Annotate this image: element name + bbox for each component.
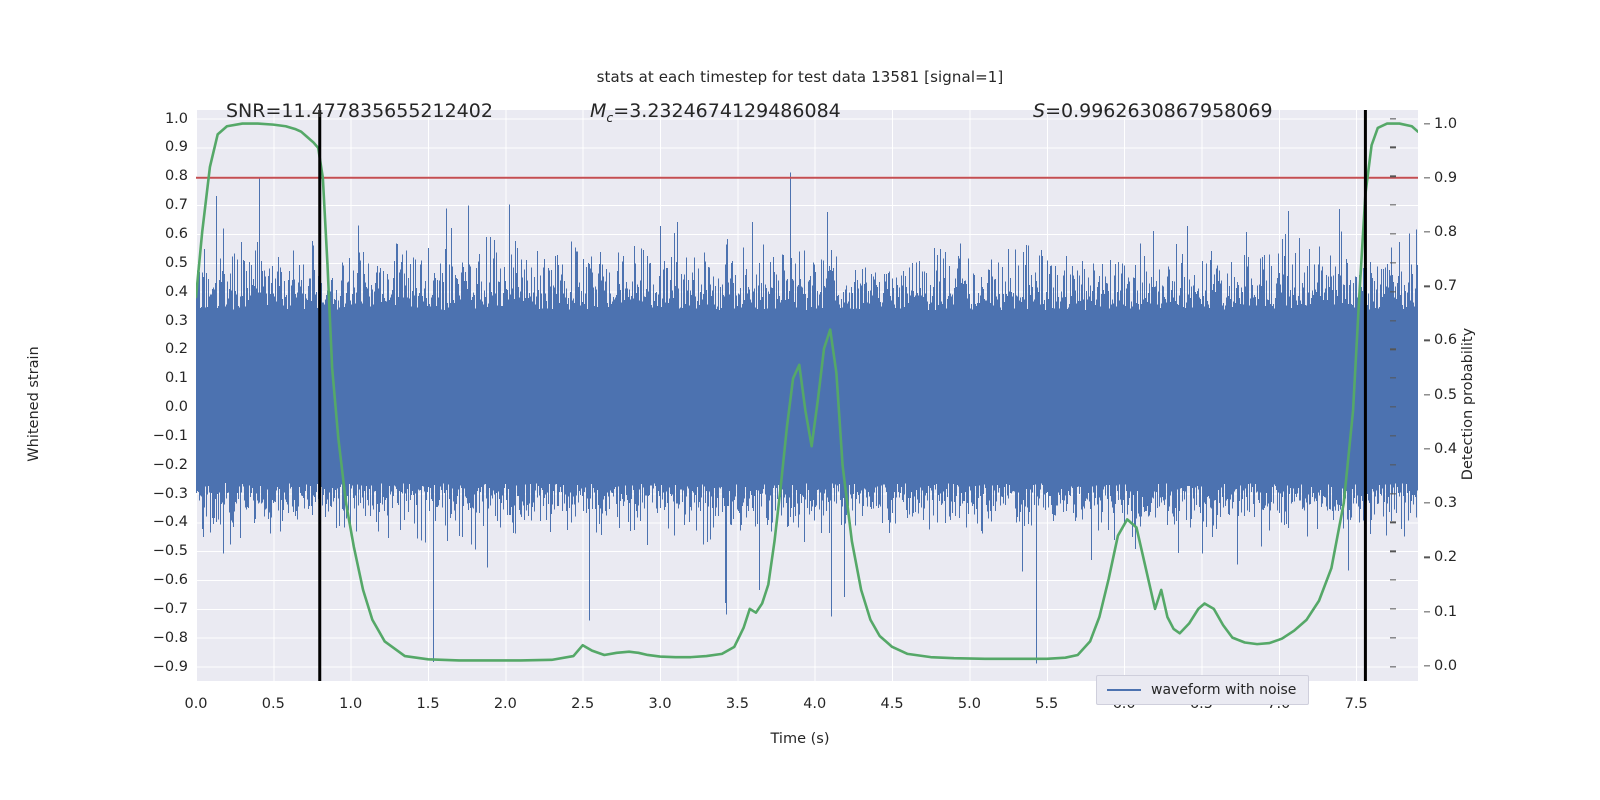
y-tick-right-0: 1.0 [1434,116,1457,132]
x-tick-7: 3.5 [726,696,749,712]
y-tick-left-0: 1.0 [165,111,188,127]
y-tickmark-right-5 [1424,394,1430,395]
y-tick-left-17: −0.7 [153,601,188,617]
y-tickmark-left-17 [1390,608,1396,609]
y-tickmark-left-19 [1390,666,1396,667]
y-tickmark-right-3 [1424,286,1430,287]
legend-line-swatch [1107,689,1141,691]
y-tick-left-19: −0.9 [153,659,188,675]
y-tick-right-5: 0.5 [1434,387,1457,403]
annotation-s-value: 0.9962630867958069 [1061,100,1273,122]
x-tick-15: 7.5 [1345,696,1368,712]
x-tick-1: 0.5 [262,696,285,712]
x-tick-10: 5.0 [958,696,981,712]
y-tickmark-right-8 [1424,557,1430,558]
annotation-snr-label: SNR= [226,100,281,122]
y-tickmark-right-6 [1424,448,1430,449]
y-tick-right-7: 0.3 [1434,495,1457,511]
y-tick-right-10: 0.0 [1434,658,1457,674]
y-tick-right-2: 0.8 [1434,224,1457,240]
y-axis-label-right: Detection probability [1460,204,1476,604]
annotation-score: S=0.9962630867958069 [1033,100,1273,122]
y-axis-label-left: Whitened strain [26,204,42,604]
y-tick-left-1: 0.9 [165,139,188,155]
x-tick-8: 4.0 [803,696,826,712]
y-tickmark-left-13 [1390,493,1396,494]
y-tick-left-6: 0.4 [165,284,188,300]
y-tick-right-8: 0.2 [1434,549,1457,565]
y-tickmark-left-5 [1390,262,1396,263]
y-tickmark-left-2 [1390,176,1396,177]
y-tickmark-left-4 [1390,233,1396,234]
legend-label-waveform: waveform with noise [1151,682,1296,698]
x-tick-11: 5.5 [1035,696,1058,712]
y-tick-right-9: 0.1 [1434,604,1457,620]
y-tickmark-right-4 [1424,340,1430,341]
y-tickmark-left-15 [1390,551,1396,552]
y-tick-right-4: 0.6 [1434,332,1457,348]
y-tickmark-left-16 [1390,579,1396,580]
y-tick-left-14: −0.4 [153,514,188,530]
x-axis-label: Time (s) [0,731,1600,747]
y-tick-left-18: −0.8 [153,630,188,646]
y-tickmark-left-6 [1390,291,1396,292]
y-tickmark-left-8 [1390,349,1396,350]
y-tickmark-left-12 [1390,464,1396,465]
y-tick-left-3: 0.7 [165,197,188,213]
y-tick-left-12: −0.2 [153,457,188,473]
x-tick-9: 4.5 [881,696,904,712]
x-tick-4: 2.0 [494,696,517,712]
y-tickmark-right-10 [1424,665,1430,666]
y-tick-left-8: 0.2 [165,341,188,357]
y-tick-left-7: 0.3 [165,313,188,329]
y-tickmark-right-0 [1424,123,1430,124]
y-tickmark-left-3 [1390,205,1396,206]
y-tick-left-5: 0.5 [165,255,188,271]
plot-axes[interactable] [196,110,1418,681]
y-tickmark-left-7 [1390,320,1396,321]
y-tickmark-right-1 [1424,177,1430,178]
y-tickmark-left-9 [1390,378,1396,379]
annotation-snr-value: 11.477835655212402 [281,100,493,122]
y-tickmark-left-14 [1390,522,1396,523]
x-tick-5: 2.5 [571,696,594,712]
y-tick-left-2: 0.8 [165,168,188,184]
y-tick-left-9: 0.1 [165,370,188,386]
y-tick-left-16: −0.6 [153,572,188,588]
y-tick-left-4: 0.6 [165,226,188,242]
y-tick-right-3: 0.7 [1434,278,1457,294]
y-tick-right-6: 0.4 [1434,441,1457,457]
x-tick-3: 1.5 [416,696,439,712]
y-tickmark-right-7 [1424,502,1430,503]
y-tickmark-left-10 [1390,406,1396,407]
y-tickmark-left-0 [1390,118,1396,119]
annotation-mc-equals: = [613,100,629,122]
data-layer [196,110,1418,681]
page-title: stats at each timestep for test data 135… [0,68,1600,86]
x-tick-6: 3.0 [649,696,672,712]
annotation-s-symbol: S [1033,100,1045,122]
annotation-mc-symbol: M [590,100,606,122]
figure-canvas: stats at each timestep for test data 135… [0,0,1600,800]
y-tick-left-10: 0.0 [165,399,188,415]
legend[interactable]: waveform with noise [1096,675,1309,705]
annotation-snr: SNR=11.477835655212402 [226,100,493,122]
annotation-chirp-mass: Mc=3.2324674129486084 [590,100,841,125]
annotation-mc-value: 3.2324674129486084 [629,100,841,122]
y-tick-left-13: −0.3 [153,486,188,502]
x-tick-0: 0.0 [184,696,207,712]
y-tick-left-15: −0.5 [153,543,188,559]
y-tick-left-11: −0.1 [153,428,188,444]
x-tick-2: 1.0 [339,696,362,712]
y-tickmark-left-18 [1390,637,1396,638]
y-tick-right-1: 0.9 [1434,170,1457,186]
annotation-s-equals: = [1045,100,1061,122]
y-tickmark-right-2 [1424,231,1430,232]
y-tickmark-right-9 [1424,611,1430,612]
y-tickmark-left-11 [1390,435,1396,436]
y-tickmark-left-1 [1390,147,1396,148]
